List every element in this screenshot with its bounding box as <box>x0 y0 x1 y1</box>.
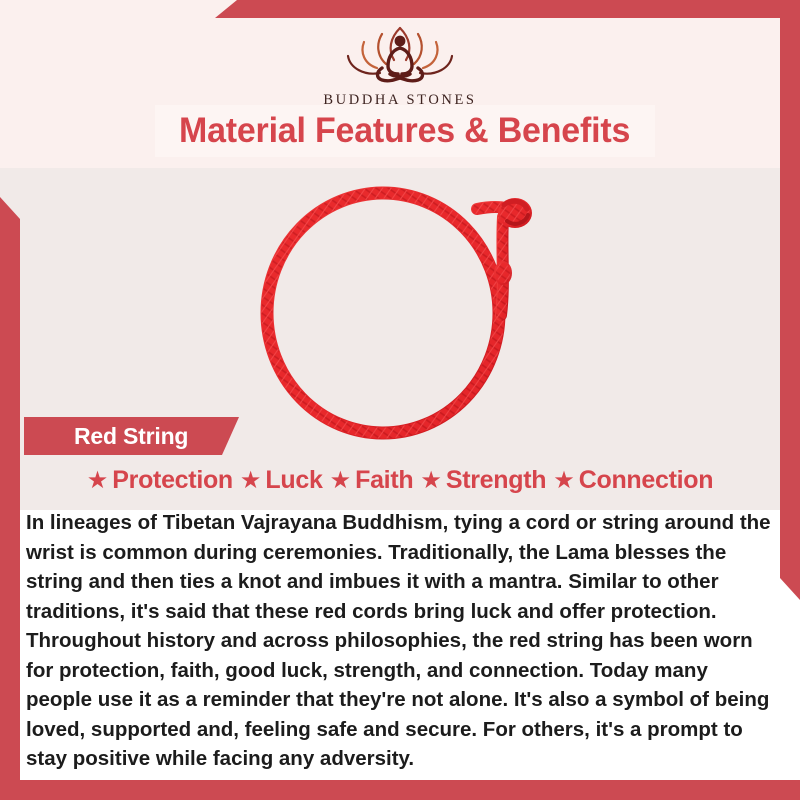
benefit-item-connection: ★ Connection <box>553 466 713 495</box>
star-icon: ★ <box>553 469 575 493</box>
decorative-bar-bottom <box>0 780 800 800</box>
benefit-item-luck: ★ Luck <box>240 466 323 495</box>
lotus-meditation-icon <box>0 16 800 88</box>
product-photo <box>215 165 585 450</box>
benefit-label: Faith <box>355 466 413 495</box>
benefits-row: ★ Protection ★ Luck ★ Faith ★ Strength ★… <box>20 466 780 495</box>
product-label-ribbon: Red String <box>24 417 239 455</box>
decorative-bar-left <box>0 197 20 800</box>
title-banner: Material Features & Benefits <box>155 105 655 157</box>
brand-logo: BUDDHA STONES <box>0 16 800 109</box>
product-label: Red String <box>74 423 188 450</box>
star-icon: ★ <box>240 469 262 493</box>
benefit-label: Protection <box>112 466 233 495</box>
description-paragraph: In lineages of Tibetan Vajrayana Buddhis… <box>26 508 774 774</box>
benefit-label: Connection <box>579 466 714 495</box>
star-icon: ★ <box>87 469 109 493</box>
infographic-page: BUDDHA STONES Material Features & Benefi… <box>0 0 800 800</box>
benefit-label: Luck <box>265 466 322 495</box>
star-icon: ★ <box>420 469 442 493</box>
benefit-item-protection: ★ Protection <box>87 466 233 495</box>
benefit-item-strength: ★ Strength <box>420 466 546 495</box>
red-string-braided-bracelet-photo <box>215 165 585 450</box>
star-icon: ★ <box>330 469 352 493</box>
benefit-label: Strength <box>446 466 546 495</box>
benefit-item-faith: ★ Faith <box>330 466 414 495</box>
page-title: Material Features & Benefits <box>179 111 630 151</box>
